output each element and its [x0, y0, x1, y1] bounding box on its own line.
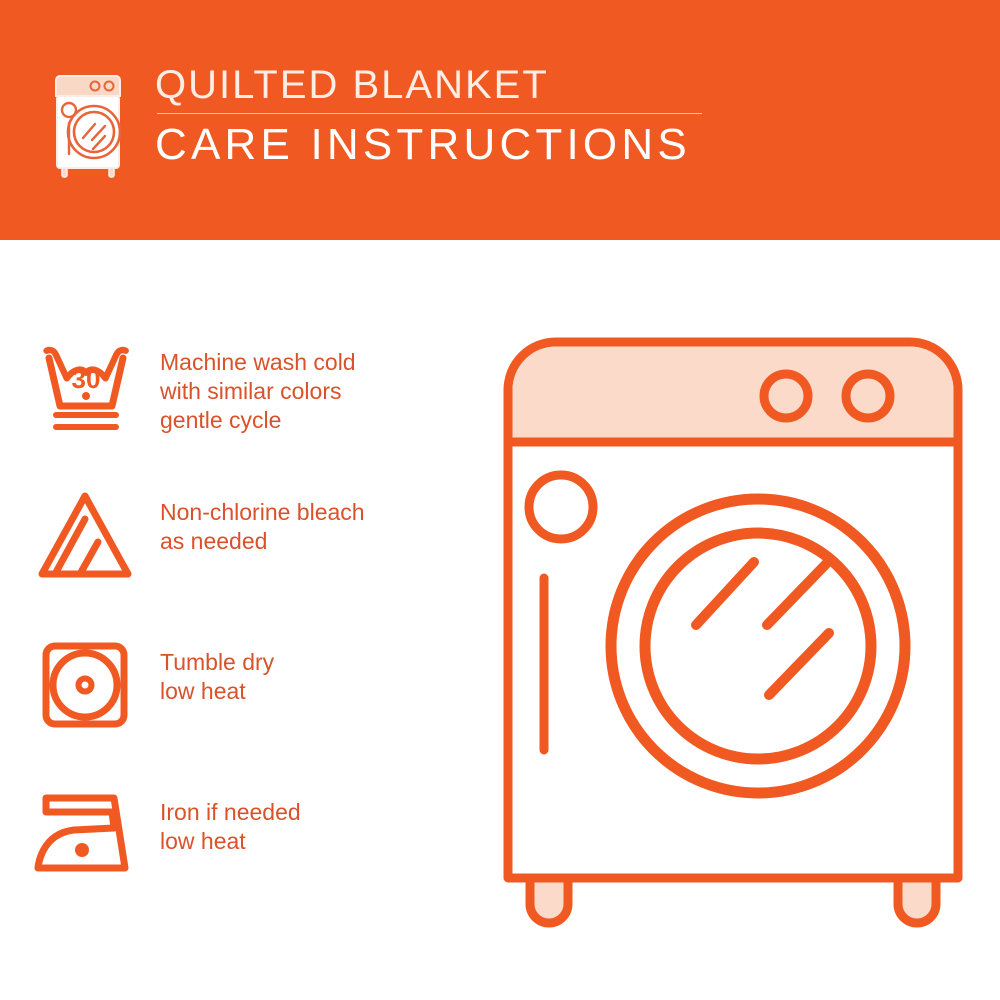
care-instruction-row-iron: Iron if needed low heat — [0, 780, 480, 930]
header-content: QUILTED BLANKET CARE INSTRUCTIONS — [45, 62, 702, 178]
care-text-line: Non-chlorine bleach — [160, 498, 365, 527]
svg-text:30: 30 — [72, 364, 101, 394]
header-band: QUILTED BLANKET CARE INSTRUCTIONS — [0, 0, 1000, 240]
page-title-product: QUILTED BLANKET — [155, 62, 702, 108]
tumble-dry-low-heat-icon — [20, 630, 150, 736]
leg-left — [530, 878, 568, 923]
leg-right — [898, 878, 936, 923]
care-instruction-row-wash: 30 Machine wash cold with similar colors… — [0, 330, 480, 480]
care-instructions-list: 30 Machine wash cold with similar colors… — [0, 330, 480, 930]
care-text-line: gentle cycle — [160, 406, 356, 435]
title-divider — [157, 113, 702, 114]
care-text-line: as needed — [160, 527, 365, 556]
washing-machine-icon — [45, 66, 137, 178]
care-text-line: Machine wash cold — [160, 348, 356, 377]
care-instruction-text-dry: Tumble dry low heat — [160, 630, 274, 706]
care-instruction-text-wash: Machine wash cold with similar colors ge… — [160, 330, 356, 435]
care-text-line: Tumble dry — [160, 648, 274, 677]
care-text-line: low heat — [160, 677, 274, 706]
wash-tub-30-gentle-icon: 30 — [20, 330, 150, 436]
care-text-line: with similar colors — [160, 377, 356, 406]
care-instruction-row-dry: Tumble dry low heat — [0, 630, 480, 780]
header-titles: QUILTED BLANKET CARE INSTRUCTIONS — [155, 62, 702, 170]
front-load-washing-machine-illustration — [488, 330, 978, 950]
care-text-line: Iron if needed — [160, 798, 301, 827]
care-instruction-text-bleach: Non-chlorine bleach as needed — [160, 480, 365, 556]
page-title-main: CARE INSTRUCTIONS — [155, 120, 702, 170]
care-instruction-text-iron: Iron if needed low heat — [160, 780, 301, 856]
non-chlorine-bleach-triangle-icon — [20, 480, 150, 586]
iron-low-heat-icon — [20, 780, 150, 886]
care-text-line: low heat — [160, 827, 301, 856]
care-instruction-row-bleach: Non-chlorine bleach as needed — [0, 480, 480, 630]
